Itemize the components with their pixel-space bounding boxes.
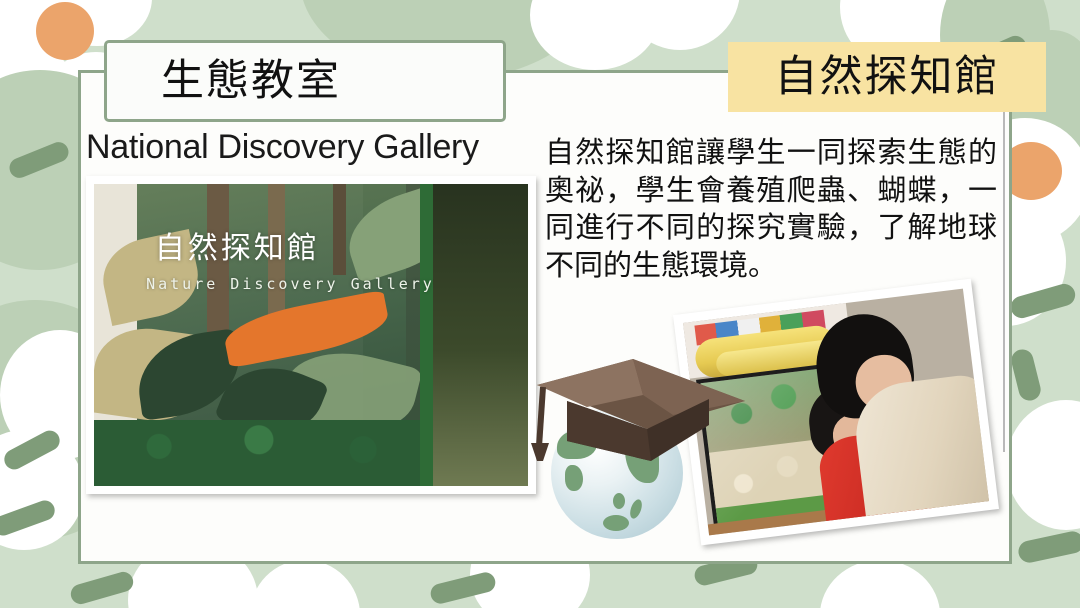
globe-landmass xyxy=(613,493,625,509)
photo-gallery-sign-image: 自然探知館 Nature Discovery Gallery xyxy=(94,184,528,486)
mural-caption-zh: 自然探知館 xyxy=(155,223,320,267)
mural-trunk xyxy=(333,184,346,275)
green-dash xyxy=(68,570,135,607)
mural-artwork: 自然探知館 Nature Discovery Gallery xyxy=(94,184,528,486)
daisy-petal xyxy=(1006,400,1080,530)
daisy-center xyxy=(36,2,94,60)
body-paragraph: 自然探知館讓學生一同探索生態的奧祕，學生會養殖爬蟲、蝴蝶，一同進行不同的探究實驗… xyxy=(545,134,997,285)
photo-gallery-sign: 自然探知館 Nature Discovery Gallery xyxy=(86,176,536,494)
photo-background-trees xyxy=(433,184,528,486)
vertical-divider xyxy=(1003,112,1005,452)
slide-canvas: 生態教室 自然探知館 National Discovery Gallery 自然… xyxy=(0,0,1080,608)
globe-landmass xyxy=(565,465,583,491)
title-box: 生態教室 xyxy=(104,40,506,122)
green-dash xyxy=(1009,347,1043,403)
green-dash xyxy=(1016,529,1080,564)
page-title: 生態教室 xyxy=(161,60,341,103)
mural-caption-en: Nature Discovery Gallery xyxy=(146,275,435,293)
daisy-petal xyxy=(250,560,360,608)
subtitle-english: National Discovery Gallery xyxy=(86,128,479,167)
globe-landmass xyxy=(603,515,629,531)
graduation-globe-emblem xyxy=(523,355,753,540)
status-badge: 自然探知館 xyxy=(728,42,1046,112)
badge-label: 自然探知館 xyxy=(775,56,1000,99)
graduation-cap-icon xyxy=(523,355,753,465)
daisy-petal xyxy=(820,560,940,608)
globe-landmass xyxy=(628,498,644,520)
